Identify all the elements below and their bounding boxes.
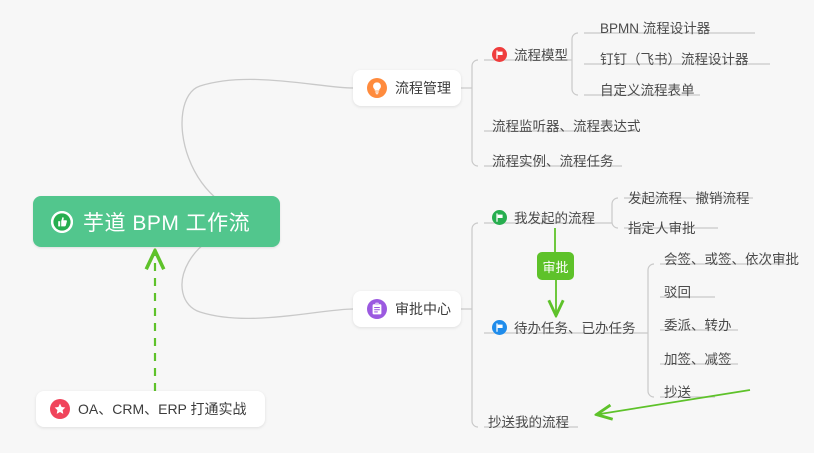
- thumbs-up-circle-icon: [51, 211, 73, 233]
- node-start-cancel-label: 发起流程、撤销流程: [628, 187, 750, 207]
- badge-approve-label: 审批: [542, 257, 568, 276]
- node-process-model-label: 流程模型: [514, 44, 568, 64]
- node-custom-process-form[interactable]: 自定义流程表单: [600, 76, 695, 102]
- node-delegate-transfer-label: 委派、转办: [664, 314, 732, 334]
- node-my-initiated[interactable]: 我发起的流程: [492, 204, 595, 230]
- node-my-initiated-label: 我发起的流程: [514, 207, 595, 227]
- node-countersign-label: 会签、或签、依次审批: [664, 248, 799, 268]
- mindmap-canvas: 芋道 BPM 工作流 流程管理 流程模型 BPMN 流程设计器 钉钉（飞书: [0, 0, 814, 453]
- node-cc-to-me-label: 抄送我的流程: [488, 411, 569, 431]
- edge-process-mgmt-spine: [472, 60, 478, 166]
- node-add-remove-sign[interactable]: 加签、减签: [664, 345, 732, 371]
- edge-process-model-spine: [572, 33, 578, 95]
- node-listener-expression-label: 流程监听器、流程表达式: [492, 115, 641, 135]
- node-listener-expression[interactable]: 流程监听器、流程表达式: [492, 112, 641, 138]
- node-custom-process-form-label: 自定义流程表单: [600, 79, 695, 99]
- node-process-mgmt[interactable]: 流程管理: [353, 70, 461, 106]
- node-dingtalk-feishu-designer-label: 钉钉（飞书）流程设计器: [600, 48, 749, 68]
- node-assignee-approve-label: 指定人审批: [628, 217, 696, 237]
- badge-approve[interactable]: 审批: [537, 252, 574, 280]
- node-reject[interactable]: 驳回: [664, 278, 691, 304]
- clipboard-circle-icon: [367, 299, 387, 319]
- node-bpmn-designer[interactable]: BPMN 流程设计器: [600, 14, 710, 40]
- node-process-mgmt-label: 流程管理: [395, 78, 451, 98]
- node-instance-task[interactable]: 流程实例、流程任务: [492, 147, 614, 173]
- root-node[interactable]: 芋道 BPM 工作流: [33, 196, 280, 247]
- node-approval-center-label: 审批中心: [395, 299, 451, 319]
- edge-todo-done-spine: [648, 264, 654, 397]
- node-approval-center[interactable]: 审批中心: [353, 291, 461, 327]
- flag-circle-icon: [492, 320, 507, 335]
- node-bottom-note-label: OA、CRM、ERP 打通实战: [78, 399, 247, 419]
- node-todo-done[interactable]: 待办任务、已办任务: [492, 314, 636, 340]
- node-todo-done-label: 待办任务、已办任务: [514, 317, 636, 337]
- node-add-remove-sign-label: 加签、减签: [664, 348, 732, 368]
- node-bottom-note[interactable]: OA、CRM、ERP 打通实战: [36, 391, 265, 427]
- node-process-model[interactable]: 流程模型: [492, 41, 568, 67]
- lightbulb-circle-icon: [367, 78, 387, 98]
- node-cc-to-me[interactable]: 抄送我的流程: [488, 408, 569, 434]
- node-instance-task-label: 流程实例、流程任务: [492, 150, 614, 170]
- node-countersign[interactable]: 会签、或签、依次审批: [664, 245, 799, 271]
- node-carbon-copy[interactable]: 抄送: [664, 378, 691, 404]
- node-delegate-transfer[interactable]: 委派、转办: [664, 311, 732, 337]
- flag-circle-icon: [492, 47, 507, 62]
- node-dingtalk-feishu-designer[interactable]: 钉钉（飞书）流程设计器: [600, 45, 749, 71]
- star-circle-icon: [50, 399, 70, 419]
- node-start-cancel[interactable]: 发起流程、撤销流程: [628, 184, 750, 210]
- node-bpmn-designer-label: BPMN 流程设计器: [600, 17, 710, 37]
- root-label: 芋道 BPM 工作流: [83, 207, 250, 237]
- edge-approval-center-spine: [472, 223, 478, 427]
- edge-my-initiated-spine: [612, 198, 618, 228]
- node-assignee-approve[interactable]: 指定人审批: [628, 214, 696, 240]
- node-reject-label: 驳回: [664, 281, 691, 301]
- flag-circle-icon: [492, 210, 507, 225]
- node-carbon-copy-label: 抄送: [664, 381, 691, 401]
